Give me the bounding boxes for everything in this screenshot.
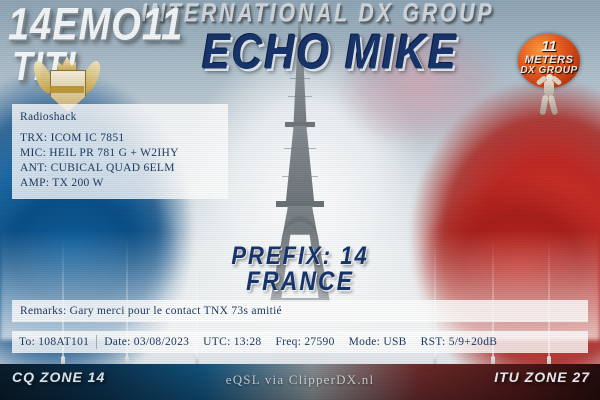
qsl-card: INTERNATIONAL DX GROUP ECHO MIKE 14EMO11…	[0, 0, 600, 400]
logo-line-1: 11	[518, 38, 580, 55]
group-name-title: ECHO MIKE	[150, 24, 510, 81]
qso-utc: UTC: 13:28	[196, 331, 268, 353]
radioshack-row-trx: TRX: ICOM IC 7851	[20, 131, 220, 146]
qso-to: To: 108AT101	[12, 331, 96, 353]
remarks-bar: Remarks: Gary merci pour le contact TNX …	[12, 300, 588, 322]
qso-details-bar: To: 108AT101 Date: 03/08/2023 UTC: 13:28…	[12, 331, 588, 353]
itu-zone-label: ITU ZONE 27	[494, 369, 590, 385]
radioshack-title: Radioshack	[20, 110, 220, 125]
qso-date: Date: 03/08/2023	[97, 331, 196, 353]
eleven-meters-dx-group-logo: 11 METERS DX GROUP	[506, 30, 592, 122]
qso-mode: Mode: USB	[342, 331, 414, 353]
country-label: FRANCE	[180, 266, 420, 297]
radioshack-row-mic: MIC: HEIL PR 781 G + W2IHY	[20, 146, 220, 161]
atlas-figure-icon	[536, 74, 562, 120]
radioshack-row-ant: ANT: CUBICAL QUAD 6ELM	[20, 161, 220, 176]
radioshack-panel: Radioshack TRX: ICOM IC 7851 MIC: HEIL P…	[12, 104, 228, 199]
qso-freq: Freq: 27590	[268, 331, 341, 353]
qso-rst: RST: 5/9+20dB	[414, 331, 505, 353]
radioshack-row-amp: AMP: TX 200 W	[20, 176, 220, 191]
